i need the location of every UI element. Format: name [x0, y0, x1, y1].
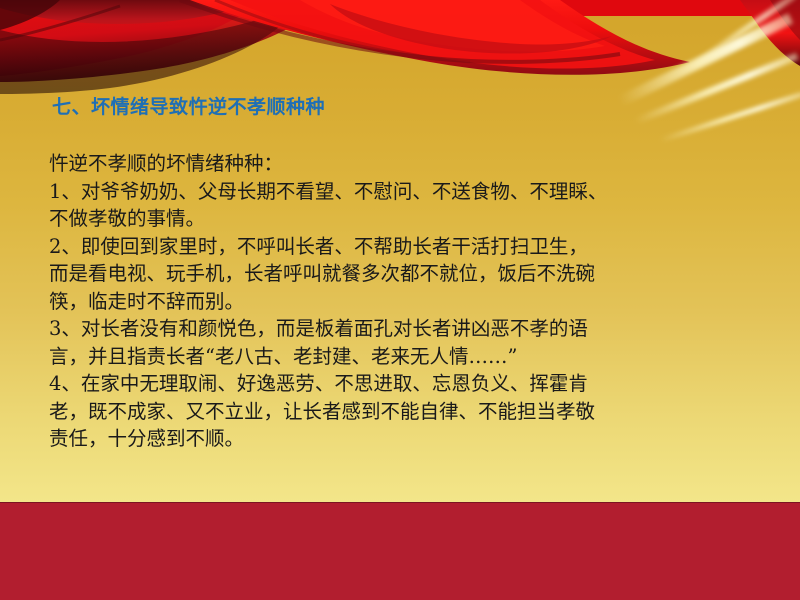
- body-line: 3、对长者没有和颜悦色，而是板着面孔对长者讲凶恶不孝的语: [49, 315, 761, 343]
- body-line: 老，既不成家、又不立业，让长者感到不能自律、不能担当孝敬: [49, 398, 761, 426]
- presentation-slide: 七、坏情绪导致忤逆不孝顺种种 忤逆不孝顺的坏情绪种种： 1、对爷爷奶奶、父母长期…: [0, 0, 800, 600]
- slide-body-text: 忤逆不孝顺的坏情绪种种： 1、对爷爷奶奶、父母长期不看望、不慰问、不送食物、不理…: [49, 150, 761, 453]
- body-line: 责任，十分感到不顺。: [49, 425, 761, 453]
- body-line: 1、对爷爷奶奶、父母长期不看望、不慰问、不送食物、不理睬、: [49, 178, 761, 206]
- body-line: 4、在家中无理取闹、好逸恶劳、不思进取、忘恩负义、挥霍肯: [49, 370, 761, 398]
- body-line: 言，并且指责长者“老八古、老封建、老来无人情……”: [49, 343, 761, 371]
- body-line: 2、即使回到家里时，不呼叫长者、不帮助长者干活打扫卫生，: [49, 233, 761, 261]
- body-line: 忤逆不孝顺的坏情绪种种：: [49, 150, 761, 178]
- slide-title: 七、坏情绪导致忤逆不孝顺种种: [52, 92, 325, 119]
- body-line: 不做孝敬的事情。: [49, 205, 761, 233]
- slide-footer-band: [0, 502, 800, 600]
- body-line: 筷，临走时不辞而别。: [49, 288, 761, 316]
- body-line: 而是看电视、玩手机，长者呼叫就餐多次都不就位，饭后不洗碗: [49, 260, 761, 288]
